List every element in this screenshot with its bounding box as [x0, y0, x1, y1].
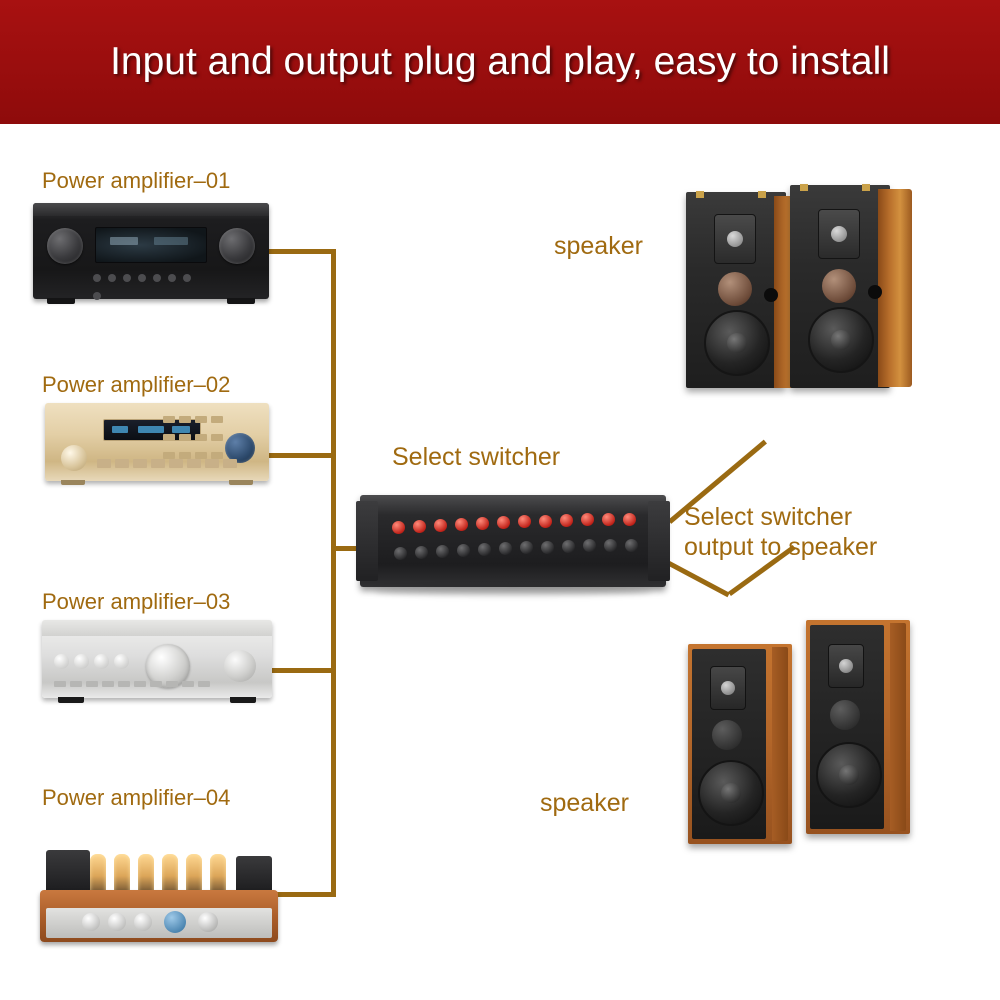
midrange-driver [822, 269, 856, 303]
receiver-display [95, 227, 207, 263]
receiver-left-knob [47, 228, 83, 264]
silver-amp-foot-right [230, 697, 256, 703]
device-av-receiver [33, 203, 269, 299]
gold-amp-foot-right [229, 480, 253, 485]
receiver-top-panel [33, 203, 269, 216]
switcher-terminal-array [392, 513, 642, 573]
label-speaker-bottom: speaker [540, 789, 629, 818]
woofer-driver [808, 307, 874, 373]
label-output-note-line2: output to speaker [684, 532, 877, 562]
tube-amp-vacuum-tubes [86, 848, 236, 894]
label-amp1: Power amplifier–01 [42, 168, 230, 194]
gold-amp-control-strip [97, 455, 247, 467]
bass-port [764, 288, 778, 302]
gold-amp-button-pad [161, 411, 225, 433]
silver-amp-foot-left [58, 697, 84, 703]
speaker-foot-left [696, 191, 704, 198]
speaker-wood-side [772, 647, 788, 841]
receiver-button-row [93, 269, 209, 281]
label-amp3: Power amplifier–03 [42, 589, 230, 615]
switcher-rack-ear-right [648, 501, 670, 581]
receiver-volume-knob [219, 228, 255, 264]
wire-switcher-to-bottom-speakers-a [666, 560, 730, 597]
wire-vertical-bus [331, 249, 336, 897]
label-amp2: Power amplifier–02 [42, 372, 230, 398]
speaker-wood-side [890, 623, 906, 831]
switcher-rack-ear-left [356, 501, 378, 581]
tweeter-driver [710, 666, 746, 710]
speaker-foot-right [758, 191, 766, 198]
device-select-switcher [360, 495, 666, 603]
switcher-shadow [374, 587, 652, 596]
wire-amp2 [266, 453, 336, 458]
label-speaker-top: speaker [554, 232, 643, 261]
gold-amp-foot-left [61, 480, 85, 485]
header-banner: Input and output plug and play, easy to … [0, 0, 1000, 124]
receiver-foot-right [227, 298, 255, 304]
tweeter-driver [828, 644, 864, 688]
page-title: Input and output plug and play, easy to … [110, 40, 890, 84]
gold-amp-dial [61, 445, 87, 471]
speaker-foot-left [800, 184, 808, 191]
label-select-switcher: Select switcher [392, 443, 560, 472]
tube-amp-front-panel [46, 908, 272, 938]
wire-amp3 [266, 668, 336, 673]
tweeter-driver [818, 209, 860, 259]
wire-amp1 [266, 249, 336, 254]
label-output-note-line1: Select switcher [684, 502, 877, 532]
silver-amp-small-knobs [54, 654, 136, 674]
silver-amp-button-row [54, 674, 254, 684]
midrange-driver [718, 272, 752, 306]
bass-port [868, 285, 882, 299]
speaker-foot-right [862, 184, 870, 191]
woofer-driver [704, 310, 770, 376]
device-tube-amplifier [40, 812, 278, 942]
woofer-driver [698, 760, 764, 826]
midrange-driver [712, 720, 742, 750]
speaker-wood-side [878, 189, 912, 387]
receiver-foot-left [47, 298, 75, 304]
device-gold-amplifier [45, 403, 269, 481]
label-amp4: Power amplifier–04 [42, 785, 230, 811]
silver-amp-top-panel [42, 620, 272, 636]
device-silver-amplifier [42, 620, 272, 698]
label-output-note: Select switcher output to speaker [684, 502, 877, 562]
woofer-driver [816, 742, 882, 808]
midrange-driver [830, 700, 860, 730]
tweeter-driver [714, 214, 756, 264]
